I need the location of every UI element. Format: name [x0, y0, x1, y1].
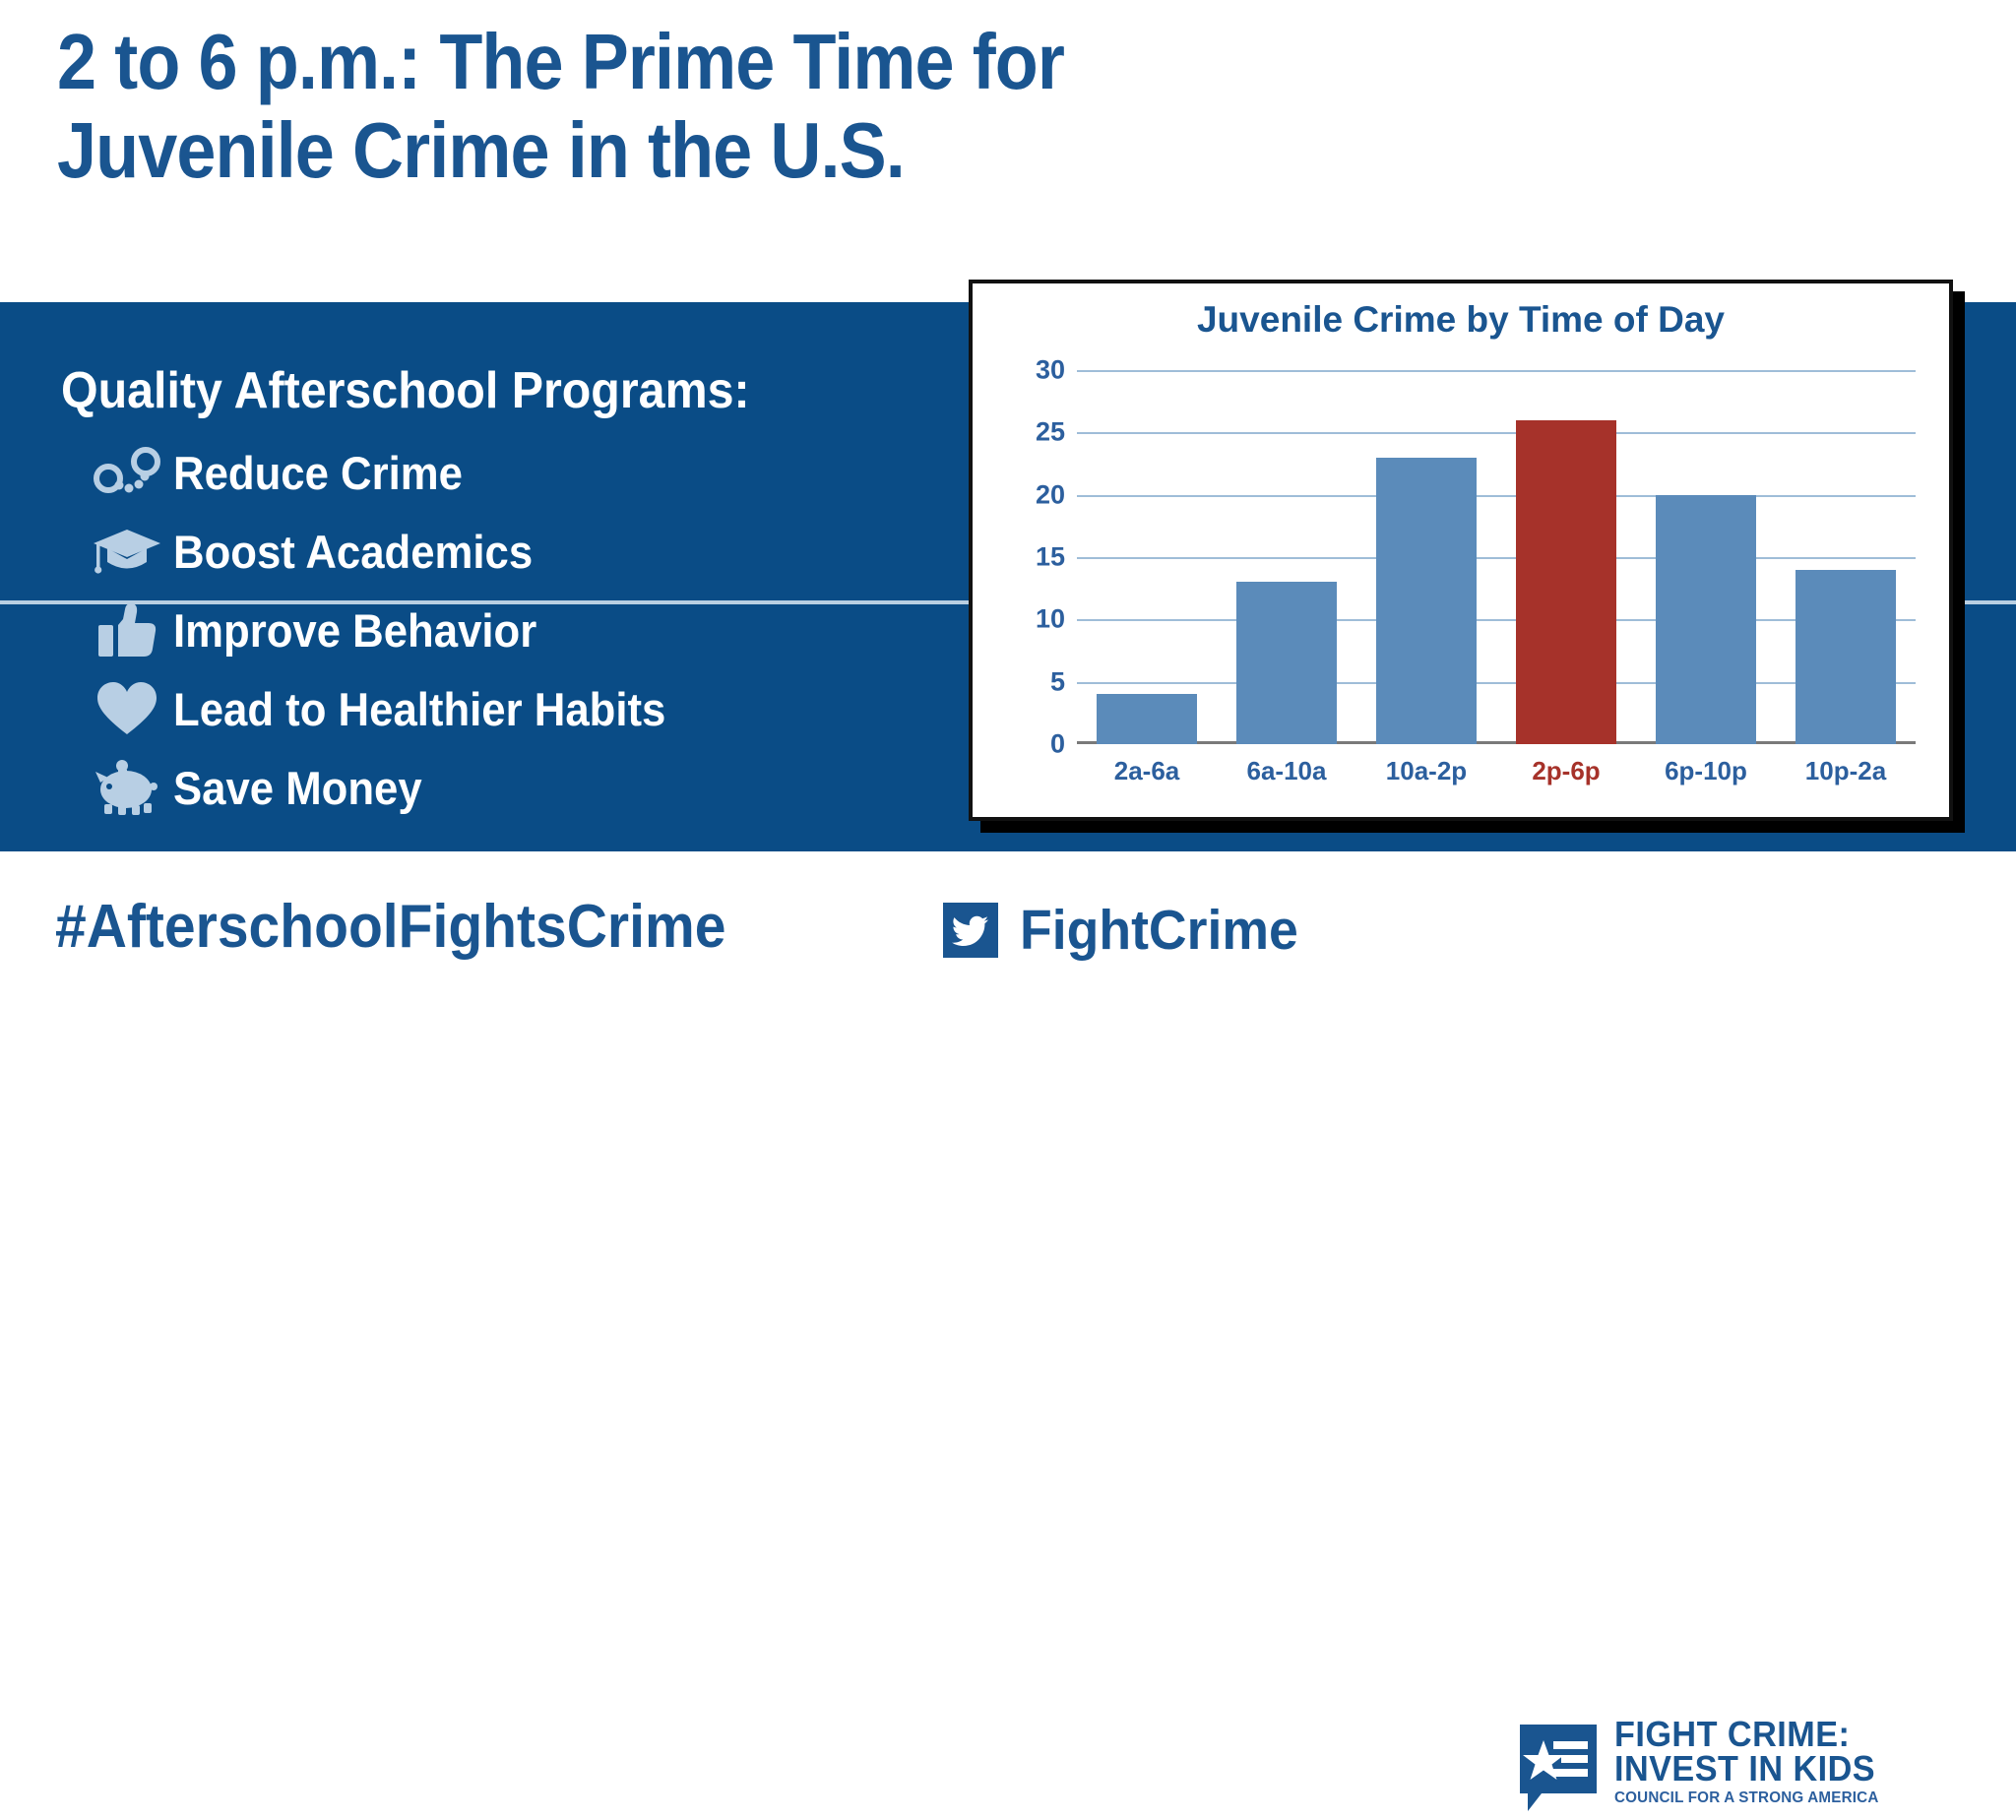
piggy-bank-icon	[85, 756, 169, 819]
y-axis-tick-label: 25	[996, 417, 1065, 448]
graduation-cap-icon	[85, 520, 169, 583]
chart-bars	[1077, 370, 1916, 744]
x-axis-tick-label: 6a-10a	[1228, 756, 1346, 795]
benefits-heading: Quality Afterschool Programs:	[61, 361, 750, 420]
list-item: Save Money	[85, 748, 703, 827]
list-item: Lead to Healthier Habits	[85, 669, 703, 748]
logo-text: FIGHT CRIME: INVEST IN KIDS COUNCIL FOR …	[1614, 1717, 1893, 1808]
infographic-root: 2 to 6 p.m.: The Prime Time for Juvenile…	[0, 0, 2016, 1008]
handcuffs-icon	[85, 441, 169, 504]
y-axis-tick-label: 0	[996, 729, 1065, 760]
y-axis-tick-label: 5	[996, 666, 1065, 697]
benefit-label: Boost Academics	[173, 525, 533, 579]
bar-slot	[1088, 694, 1206, 744]
x-axis-tick-label: 6p-10p	[1647, 756, 1765, 795]
chart-card: Juvenile Crime by Time of Day 0510152025…	[969, 280, 1953, 821]
twitter-bird-icon	[943, 903, 998, 958]
page-title: 2 to 6 p.m.: The Prime Time for Juvenile…	[57, 18, 1563, 194]
y-axis-tick-label: 15	[996, 542, 1065, 573]
logo-line-2: INVEST IN KIDS	[1614, 1751, 1879, 1786]
bar-slot	[1228, 582, 1346, 744]
y-axis-tick-label: 30	[996, 355, 1065, 386]
list-item: Improve Behavior	[85, 591, 703, 669]
bar	[1795, 570, 1896, 744]
twitter-handle: FightCrime	[1020, 898, 1298, 963]
bar-slot	[1787, 570, 1905, 744]
benefit-label: Save Money	[173, 761, 422, 815]
bar-slot	[1507, 420, 1625, 744]
list-item: Reduce Crime	[85, 433, 703, 512]
chart-x-axis-labels: 2a-6a6a-10a10a-2p2p-6p6p-10p10p-2a	[1077, 756, 1916, 795]
benefits-list: Reduce Crime Boost Academics	[85, 433, 703, 827]
twitter-block[interactable]: FightCrime	[943, 898, 1316, 963]
x-axis-tick-label: 10a-2p	[1367, 756, 1485, 795]
logo-line-3: COUNCIL FOR A STRONG AMERICA	[1614, 1789, 1879, 1808]
footer-band: #AfterschoolFightsCrime FightCrime	[0, 847, 2016, 1008]
bar	[1516, 420, 1616, 744]
bar	[1656, 495, 1756, 744]
speech-bubble-star-flag-icon	[1516, 1721, 1601, 1815]
y-axis-tick-label: 10	[996, 604, 1065, 635]
hashtag: #AfterschoolFightsCrime	[55, 892, 725, 962]
header-band: 2 to 6 p.m.: The Prime Time for Juvenile…	[0, 0, 2016, 302]
y-axis-tick-label: 20	[996, 479, 1065, 510]
chart-title: Juvenile Crime by Time of Day	[973, 299, 1949, 341]
heart-icon	[85, 677, 169, 740]
bar-slot	[1647, 495, 1765, 744]
x-axis-tick-label: 10p-2a	[1787, 756, 1905, 795]
thumbs-up-icon	[85, 598, 169, 661]
organization-logo[interactable]: FIGHT CRIME: INVEST IN KIDS COUNCIL FOR …	[1516, 1721, 1893, 1815]
list-item: Boost Academics	[85, 512, 703, 591]
benefit-label: Lead to Healthier Habits	[173, 682, 665, 736]
bar	[1097, 694, 1197, 744]
bar	[1376, 458, 1477, 744]
benefit-label: Reduce Crime	[173, 446, 463, 500]
benefit-label: Improve Behavior	[173, 603, 536, 658]
x-axis-tick-label: 2a-6a	[1088, 756, 1206, 795]
bar-slot	[1367, 458, 1485, 744]
x-axis-tick-label: 2p-6p	[1507, 756, 1625, 795]
chart-plot-area: 051015202530	[1077, 370, 1916, 744]
footer-top-rule	[0, 847, 2016, 851]
logo-line-1: FIGHT CRIME:	[1614, 1717, 1879, 1751]
bar	[1236, 582, 1337, 744]
